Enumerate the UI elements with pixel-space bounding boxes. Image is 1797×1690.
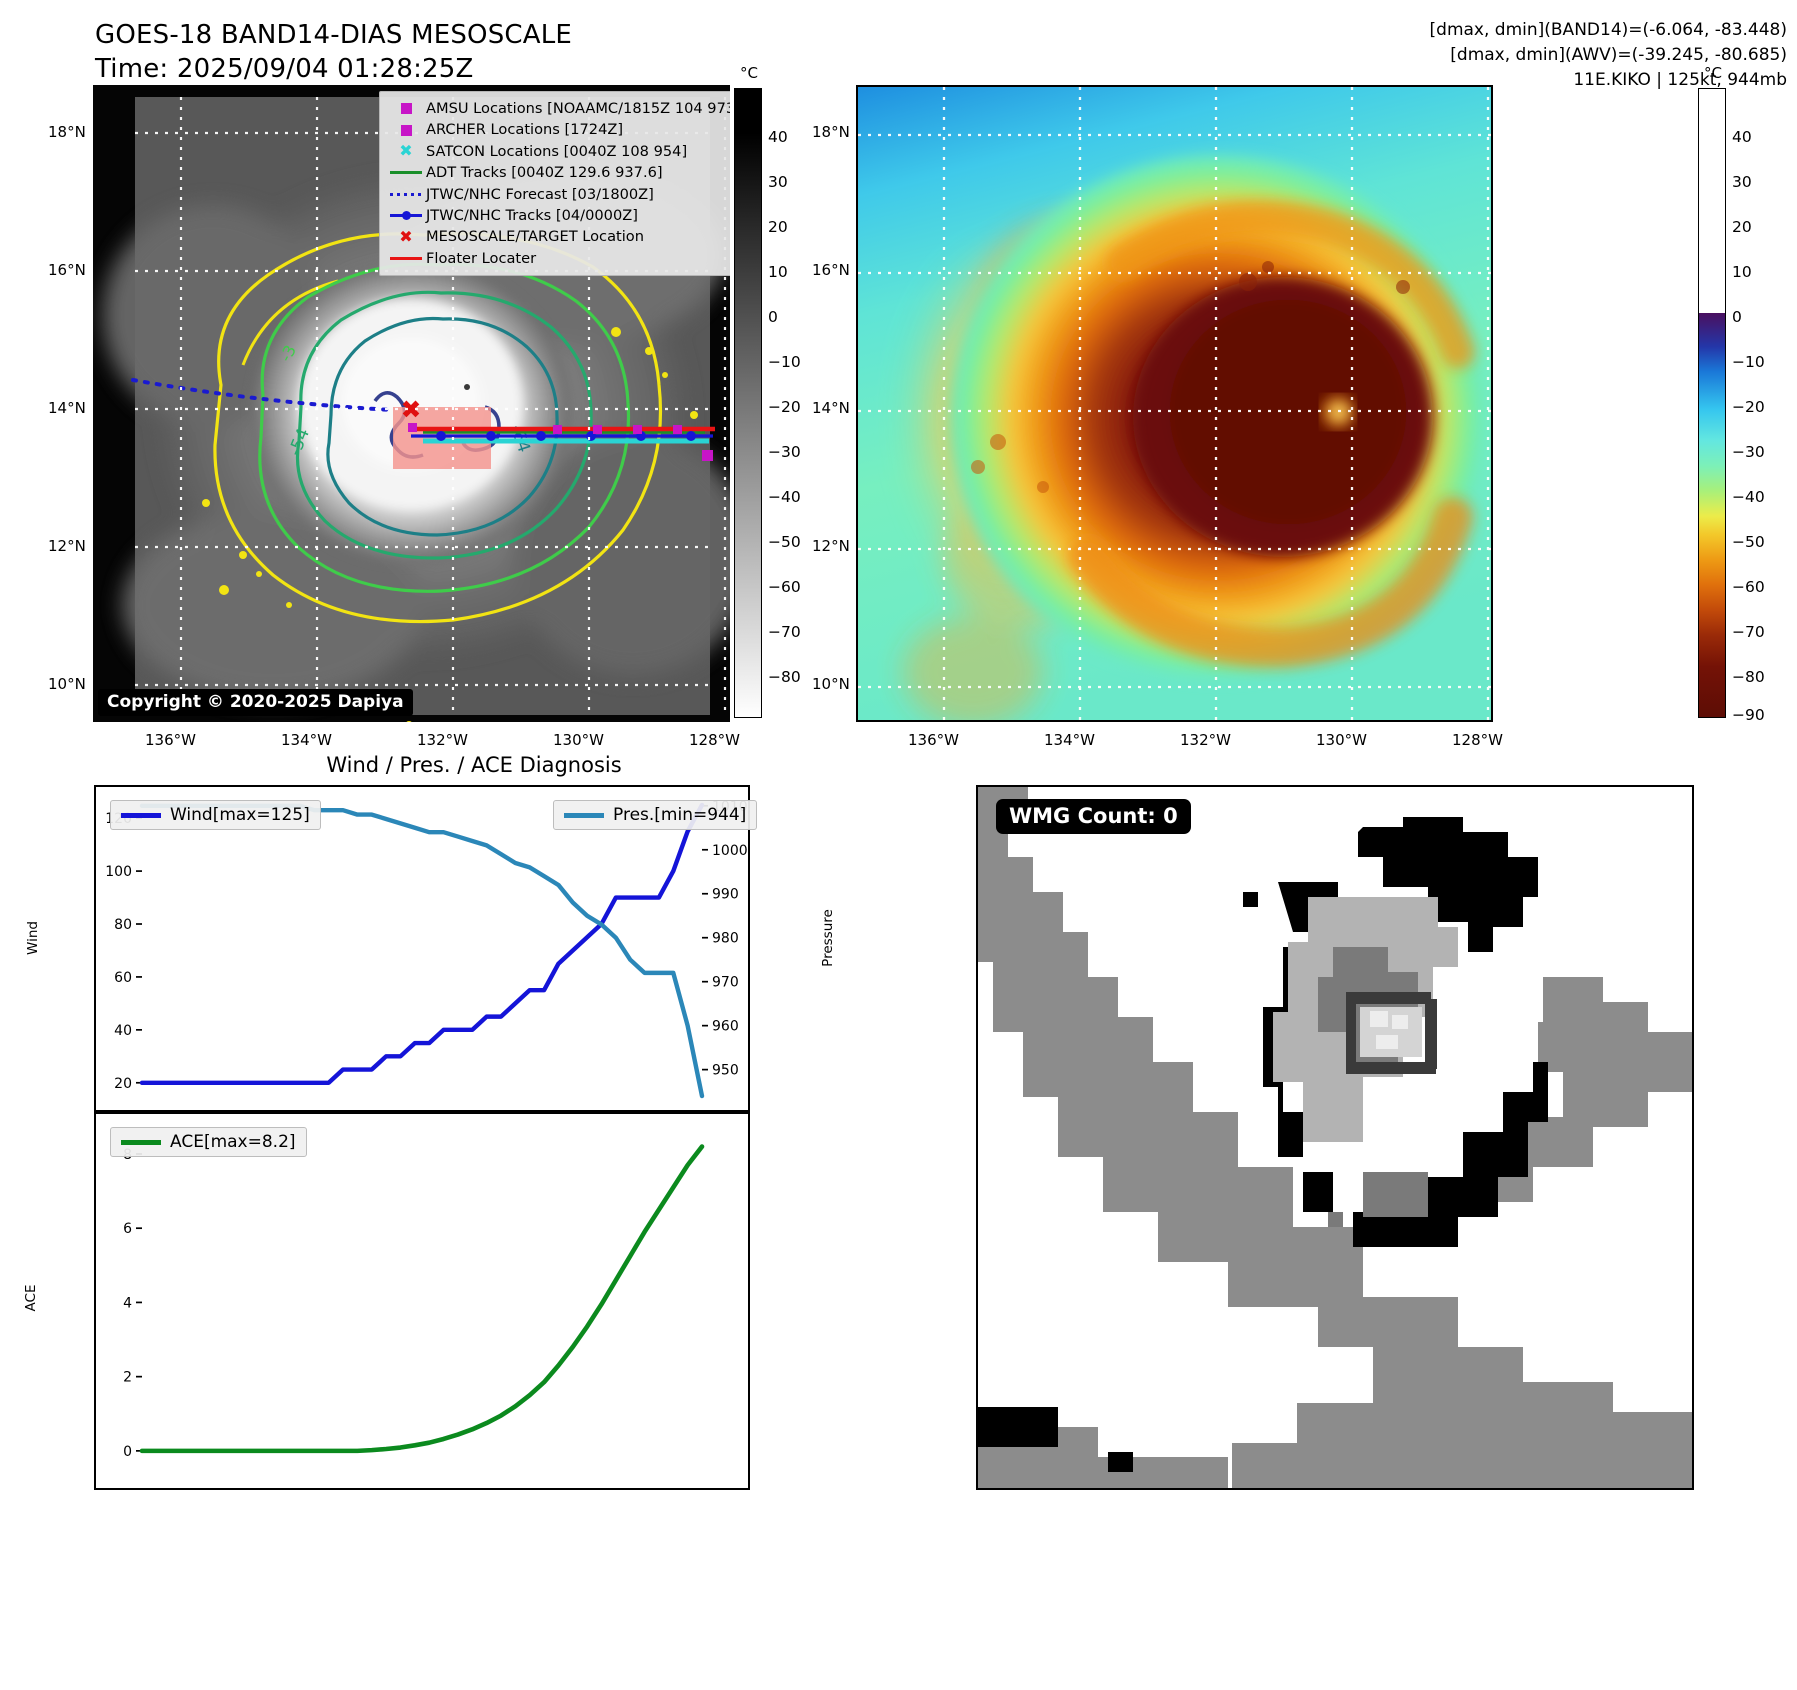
legend-row[interactable]: Floater Locater bbox=[386, 248, 730, 269]
svg-text:100: 100 bbox=[105, 864, 132, 880]
wmg-imagery bbox=[978, 787, 1692, 1488]
svg-text:1000: 1000 bbox=[712, 843, 748, 859]
legend-row[interactable]: ARCHER Locations [1724Z] bbox=[386, 119, 730, 140]
archer-square-icon bbox=[386, 125, 426, 136]
wind-legend-label: Wind[max=125] bbox=[170, 805, 310, 825]
legend-label: ARCHER Locations [1724Z] bbox=[426, 119, 623, 140]
wind-pressure-chart[interactable]: 2040608010012095096097098099010001010 bbox=[94, 785, 750, 1112]
svg-text:20: 20 bbox=[114, 1076, 132, 1092]
colorbar-units: °C bbox=[1704, 64, 1722, 82]
ir-map-legend: AMSU Locations [NOAAMC/1815Z 104 973] AR… bbox=[379, 91, 730, 276]
target-x-icon: ✖ bbox=[386, 232, 426, 242]
legend-label: SATCON Locations [0040Z 108 954] bbox=[426, 141, 687, 162]
page-title: GOES-18 BAND14-DIAS MESOSCALE Time: 2025… bbox=[95, 18, 572, 86]
legend-row[interactable]: ADT Tracks [0040Z 129.6 937.6] bbox=[386, 162, 730, 183]
satcon-x-icon: ✖ bbox=[386, 146, 426, 156]
dmax-dmin-band14: [dmax, dmin](BAND14)=(-6.064, -83.448) bbox=[1430, 18, 1787, 43]
floater-line-icon bbox=[386, 257, 426, 260]
legend-row[interactable]: AMSU Locations [NOAAMC/1815Z 104 973] bbox=[386, 98, 730, 119]
ace-chart[interactable]: 02468 bbox=[94, 1112, 750, 1490]
legend-row[interactable]: ✖ MESOSCALE/TARGET Location bbox=[386, 226, 730, 247]
title-line-product: GOES-18 BAND14-DIAS MESOSCALE bbox=[95, 18, 572, 52]
svg-text:2: 2 bbox=[123, 1370, 132, 1386]
awv-enhanced-map[interactable] bbox=[856, 85, 1493, 722]
copyright-notice: Copyright © 2020-2025 Dapiya bbox=[98, 689, 413, 716]
dmax-dmin-awv: [dmax, dmin](AWV)=(-39.245, -80.685) bbox=[1430, 43, 1787, 68]
wmg-count-badge: WMG Count: 0 bbox=[996, 799, 1191, 834]
svg-text:960: 960 bbox=[712, 1019, 739, 1035]
legend-label: AMSU Locations [NOAAMC/1815Z 104 973] bbox=[426, 98, 730, 119]
header-stats: [dmax, dmin](BAND14)=(-6.064, -83.448) [… bbox=[1430, 18, 1787, 93]
awv-imagery bbox=[858, 87, 1491, 720]
adt-line-icon bbox=[386, 171, 426, 174]
ace-axis-label: ACE bbox=[23, 1263, 39, 1333]
colorbar-units: °C bbox=[740, 64, 758, 82]
svg-text:80: 80 bbox=[114, 917, 132, 933]
pressure-legend-label: Pres.[min=944] bbox=[613, 805, 746, 825]
svg-text:4: 4 bbox=[123, 1295, 132, 1311]
ace-legend-label: ACE[max=8.2] bbox=[170, 1132, 296, 1152]
pressure-line-swatch bbox=[564, 813, 604, 818]
svg-text:6: 6 bbox=[123, 1221, 132, 1237]
legend-label: JTWC/NHC Tracks [04/0000Z] bbox=[426, 205, 638, 226]
wind-axis-label: Wind bbox=[25, 903, 41, 973]
ir-mesoscale-map[interactable]: -54 -64 -3 bbox=[93, 85, 730, 722]
diagnosis-title: Wind / Pres. / ACE Diagnosis bbox=[94, 753, 854, 777]
title-line-time: Time: 2025/09/04 01:28:25Z bbox=[95, 52, 572, 86]
colorbar-gradient bbox=[1698, 88, 1726, 718]
legend-label: MESOSCALE/TARGET Location bbox=[426, 226, 644, 247]
pressure-legend[interactable]: Pres.[min=944] bbox=[553, 800, 757, 830]
ace-legend[interactable]: ACE[max=8.2] bbox=[110, 1127, 307, 1157]
forecast-dotted-line-icon bbox=[386, 193, 426, 196]
target-x-marker: ✖ bbox=[401, 395, 422, 424]
track-line-marker-icon bbox=[386, 214, 426, 217]
svg-text:0: 0 bbox=[123, 1444, 132, 1460]
amsu-square-icon bbox=[386, 103, 426, 114]
svg-text:40: 40 bbox=[114, 1023, 132, 1039]
legend-label: JTWC/NHC Forecast [03/1800Z] bbox=[426, 184, 654, 205]
svg-text:970: 970 bbox=[712, 975, 739, 991]
legend-row[interactable]: ✖ SATCON Locations [0040Z 108 954] bbox=[386, 141, 730, 162]
colorbar-gradient bbox=[734, 88, 762, 718]
svg-text:950: 950 bbox=[712, 1063, 739, 1079]
svg-text:990: 990 bbox=[712, 887, 739, 903]
legend-row[interactable]: JTWC/NHC Tracks [04/0000Z] bbox=[386, 205, 730, 226]
pressure-axis-label: Pressure bbox=[820, 898, 836, 978]
svg-text:980: 980 bbox=[712, 931, 739, 947]
wind-legend[interactable]: Wind[max=125] bbox=[110, 800, 321, 830]
wind-pressure-plot: 2040608010012095096097098099010001010 bbox=[96, 787, 748, 1110]
ace-line-swatch bbox=[121, 1140, 161, 1145]
legend-label: ADT Tracks [0040Z 129.6 937.6] bbox=[426, 162, 663, 183]
svg-text:60: 60 bbox=[114, 970, 132, 986]
ace-plot: 02468 bbox=[96, 1114, 748, 1488]
wmg-panel[interactable]: WMG Count: 0 bbox=[976, 785, 1694, 1490]
legend-row[interactable]: JTWC/NHC Forecast [03/1800Z] bbox=[386, 184, 730, 205]
legend-label: Floater Locater bbox=[426, 248, 536, 269]
wind-line-swatch bbox=[121, 813, 161, 818]
